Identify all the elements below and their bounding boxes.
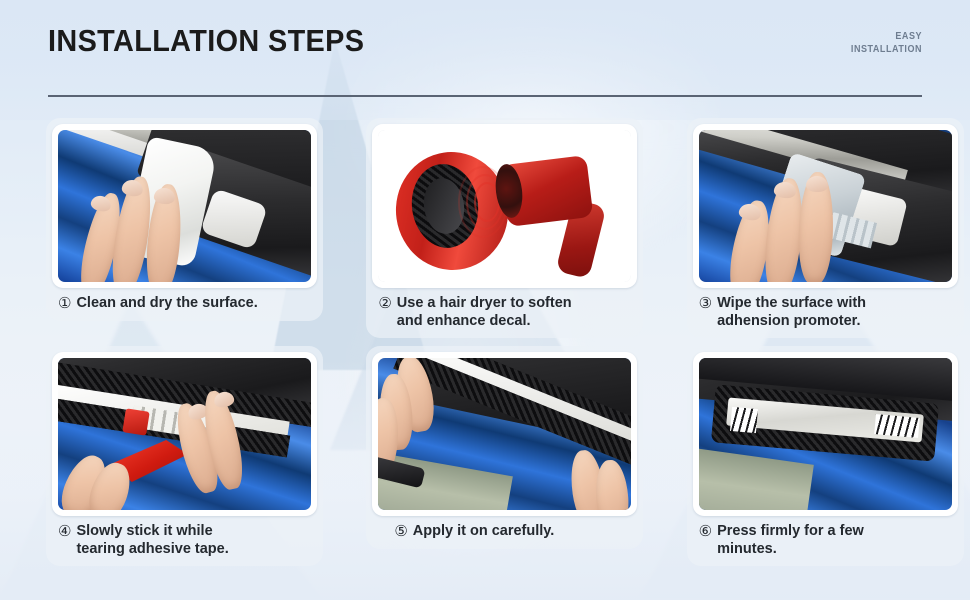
eyebrow-line-1: EASY	[851, 30, 922, 43]
step-card-4: ④ Slowly stick it while tearing adhesive…	[46, 346, 329, 566]
step-text-6-line1: Press firmly for a few	[717, 523, 956, 541]
step-photo-frame-5	[372, 352, 637, 516]
steps-row-top: ① Clean and dry the surface.	[0, 118, 970, 338]
step-text-5: Apply it on carefully.	[413, 523, 636, 541]
step-photo-2	[378, 130, 631, 282]
step-card-1: ① Clean and dry the surface.	[46, 118, 329, 338]
steps-row-bottom: ④ Slowly stick it while tearing adhesive…	[0, 346, 970, 566]
step-photo-frame-6	[693, 352, 958, 516]
step-panel-1: ① Clean and dry the surface.	[46, 118, 323, 321]
step-photo-frame-1	[52, 124, 317, 288]
step-number-5: ⑤	[394, 523, 407, 541]
step-panel-6: ⑥ Press firmly for a few minutes.	[687, 346, 964, 566]
step-text-3-line1: Wipe the surface with	[717, 295, 956, 313]
step-number-4: ④	[58, 523, 71, 541]
step-text-3: Wipe the surface with adhension promoter…	[717, 295, 956, 330]
step-caption-4: ④ Slowly stick it while tearing adhesive…	[58, 523, 315, 558]
step-photo-4	[58, 358, 311, 510]
step-caption-2: ② Use a hair dryer to soften and enhance…	[378, 295, 635, 330]
step-number-1: ①	[58, 295, 71, 313]
page-title: INSTALLATION STEPS	[48, 23, 364, 59]
step-caption-1: ① Clean and dry the surface.	[58, 295, 315, 313]
step-photo-frame-4	[52, 352, 317, 516]
step-caption-5: ⑤ Apply it on carefully.	[394, 523, 635, 541]
page-header: INSTALLATION STEPS EASY INSTALLATION	[0, 0, 970, 110]
step-panel-5: ⑤ Apply it on carefully.	[366, 346, 643, 549]
step-text-4-line2: tearing adhesive tape.	[76, 541, 315, 559]
eyebrow-label: EASY INSTALLATION	[851, 30, 922, 56]
step-text-6-line2: minutes.	[717, 541, 956, 559]
step-card-6: ⑥ Press firmly for a few minutes.	[687, 346, 970, 566]
step-text-1: Clean and dry the surface.	[76, 295, 315, 313]
installation-steps-page: INSTALLATION STEPS EASY INSTALLATION	[0, 0, 970, 600]
step-photo-3	[699, 130, 952, 282]
step-number-2: ②	[378, 295, 391, 313]
step-panel-4: ④ Slowly stick it while tearing adhesive…	[46, 346, 323, 566]
step-photo-1	[58, 130, 311, 282]
step-text-2-line1: Use a hair dryer to soften	[397, 295, 636, 313]
step-photo-frame-2	[372, 124, 637, 288]
step-text-4: Slowly stick it while tearing adhesive t…	[76, 523, 315, 558]
step-text-3-line2: adhension promoter.	[717, 313, 956, 331]
step-panel-3: ③ Wipe the surface with adhension promot…	[687, 118, 964, 338]
step-photo-frame-3	[693, 124, 958, 288]
step-card-3: ③ Wipe the surface with adhension promot…	[687, 118, 970, 338]
step-number-3: ③	[699, 295, 712, 313]
step-caption-3: ③ Wipe the surface with adhension promot…	[699, 295, 956, 330]
step-card-5: ⑤ Apply it on carefully.	[366, 346, 649, 566]
step-number-6: ⑥	[699, 523, 712, 541]
step-text-6: Press firmly for a few minutes.	[717, 523, 956, 558]
step-photo-5	[378, 358, 631, 510]
step-photo-6	[699, 358, 952, 510]
eyebrow-line-2: INSTALLATION	[851, 43, 922, 56]
steps-grid: ① Clean and dry the surface.	[0, 118, 970, 566]
step-card-2: ② Use a hair dryer to soften and enhance…	[366, 118, 649, 338]
step-text-4-line1: Slowly stick it while	[76, 523, 315, 541]
step-text-2-line2: and enhance decal.	[397, 313, 636, 331]
step-text-2: Use a hair dryer to soften and enhance d…	[397, 295, 636, 330]
step-caption-6: ⑥ Press firmly for a few minutes.	[699, 523, 956, 558]
header-divider	[48, 95, 922, 97]
step-panel-2: ② Use a hair dryer to soften and enhance…	[366, 118, 643, 338]
